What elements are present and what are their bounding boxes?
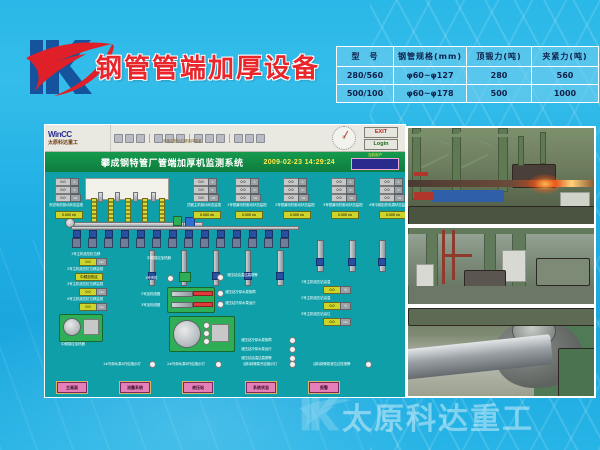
hmi-system-title: 攀成钢特管厂管端加厚机监测系统 [101, 156, 244, 169]
roller [281, 230, 289, 238]
value-box: 0.0 [55, 194, 71, 202]
unit-box: A [346, 178, 355, 186]
cylinder-joint [316, 258, 324, 266]
unit-box: V [250, 186, 259, 194]
unit-box: A [298, 178, 307, 186]
lamp-label: 液压站冷却水泵运行 [225, 301, 256, 306]
hydraulic-cylinder [349, 240, 356, 272]
readout-label: 3号主机液压站油位 [301, 312, 330, 317]
unit-box: V [298, 186, 307, 194]
refresh-icon[interactable] [256, 134, 265, 143]
hydraulic-cylinder [379, 240, 386, 272]
photo-detail [540, 132, 546, 164]
exit-button[interactable]: EXIT [364, 127, 398, 138]
readout-label: 2号主机液压站油温 [301, 296, 330, 301]
value-box: 0.0 [331, 178, 347, 186]
value-box: 0.0 [235, 194, 251, 202]
photo-detail [432, 190, 504, 202]
table-cell: φ60~φ127 [394, 67, 467, 85]
unit-box: Hz [250, 194, 261, 202]
hmi-toolbar: WinCC 太原科达重工 请单击鼠标右键选择菜单 [45, 125, 405, 152]
photo-detail [518, 136, 524, 166]
save-icon[interactable] [125, 134, 134, 143]
photo-detail [412, 128, 421, 200]
roller-stand [72, 238, 81, 248]
hydraulic-cylinder [245, 250, 251, 286]
status-lamp [203, 338, 210, 345]
hmi-title-bar: 攀成钢特管厂管端加厚机监测系统 2009-02-23 14:29:24 当前用户 [45, 152, 405, 172]
center-label: 3号加热线圈 [141, 303, 160, 308]
login-button[interactable]: Login [364, 139, 398, 150]
lamp-label: 液压站冷却水泵故障 [225, 290, 256, 295]
table-header-row: 型 号 钢管规格(mm) 顶锻力(吨) 夹紧力(吨) [337, 47, 599, 67]
roller-stand [136, 238, 145, 248]
roller-stand [88, 238, 97, 248]
photo-detail [414, 172, 428, 176]
photo-detail [558, 348, 596, 398]
value-box: 0.0 [283, 178, 299, 186]
hydraulic-station-label: 中频感应加热器 [61, 342, 85, 347]
readout-value: 0.0 [79, 258, 97, 266]
unit-box: Hz [346, 194, 357, 202]
open-icon[interactable] [114, 134, 123, 143]
cylinder-joint [276, 272, 284, 280]
wincc-brand: WinCC 太原科达重工 [45, 125, 111, 151]
hydraulic-cylinder [317, 240, 324, 272]
nav-button-hydraulic[interactable]: 液压站 [183, 382, 213, 393]
sensor-probe [115, 192, 120, 202]
photo-image [408, 128, 594, 224]
hmi-top-buttons: EXIT Login [360, 125, 405, 151]
unit-box: V [346, 186, 355, 194]
hydraulic-cylinder [277, 250, 284, 286]
table-cell: φ60~φ178 [394, 85, 467, 103]
value-box: 0.0 [55, 178, 71, 186]
sensor-probe [133, 192, 138, 202]
rotary-selector [173, 320, 201, 348]
watermark-text: 太原科达重工 [342, 394, 534, 438]
watermark: 太原科达重工 [298, 392, 598, 440]
table-header-cell: 钢管规格(mm) [394, 47, 467, 67]
roller [137, 230, 145, 238]
tank-indicator [83, 319, 99, 335]
lamp-label: 液压站油温过高报警 [241, 356, 272, 361]
unit-box: Hz [394, 194, 405, 202]
readout-value: 0.0 [79, 288, 97, 296]
readout-value: 0.0 [323, 302, 341, 310]
lamp-label: 液压站油温过高报警 [227, 273, 258, 278]
photo-detail [461, 154, 489, 169]
print-icon[interactable] [136, 134, 145, 143]
unit-box: A [208, 178, 217, 186]
table-cell: 500/100 [337, 85, 394, 103]
status-lamp [149, 361, 156, 368]
roller-stand [184, 238, 193, 248]
roller [201, 230, 209, 238]
slide-canvas: 钢管管端加厚设备 型 号 钢管规格(mm) 顶锻力(吨) 夹紧力(吨) 280/… [0, 0, 600, 450]
unit-box: A [394, 178, 403, 186]
readout-unit: mm [96, 258, 107, 266]
cylinder-joint [348, 258, 356, 266]
unit-box: Hz [208, 194, 219, 202]
lamp-label: 油料润滑泵液位过低报警 [313, 362, 350, 367]
readout-unit: ℃ [340, 286, 351, 294]
readout-unit: ℃ [340, 302, 351, 310]
status-lamp [289, 361, 296, 368]
status-lamp [365, 361, 372, 368]
nav-button-flow[interactable]: 流量系统 [120, 382, 150, 393]
readout-label: 1号主机液压缸位移 [71, 252, 100, 257]
value-box: 0.0 [379, 186, 395, 194]
panel-caption: 顶锻主机驱动状态监视 [187, 203, 221, 208]
analog-clock-gauge: K [332, 126, 356, 150]
current-user-value [351, 158, 399, 170]
unit-box: A [250, 178, 259, 186]
roller-stand [280, 238, 289, 248]
photo-detail [442, 230, 445, 284]
photo-rolling-mill-hot-pipe [406, 126, 596, 226]
center-label: 中频感应加热器 [147, 256, 171, 261]
readout-value: 0.0 [323, 286, 341, 294]
photo-detail [421, 154, 449, 169]
unit-box: Hz [298, 194, 309, 202]
readout-unit: mm [96, 303, 107, 311]
value-box: 0.0 [235, 186, 251, 194]
value-box: 0.0 [235, 178, 251, 186]
toolbar-separator [149, 134, 150, 143]
nav-button-status[interactable]: 系统状态 [246, 382, 276, 393]
unit-box: Hz [70, 194, 81, 202]
photo-image [408, 308, 594, 396]
roller [89, 230, 97, 238]
photo-detail [408, 180, 594, 187]
roller-stand [120, 238, 129, 248]
table-header-cell: 夹紧力(吨) [531, 47, 598, 67]
toolbar-hint-text: 请单击鼠标右键选择菜单 [163, 139, 202, 144]
value-box: 0.0 [193, 194, 209, 202]
photo-detail [442, 254, 472, 257]
roller [265, 230, 273, 238]
status-lamp [289, 346, 296, 353]
readout-label: 4号主机液压缸位移监视 [67, 297, 103, 302]
photo-detail [536, 258, 590, 286]
readout-box: 0.000 r/s [283, 211, 311, 219]
status-lamp [217, 290, 224, 297]
value-box: 0.0 [283, 194, 299, 202]
table-cell: 280 [466, 67, 531, 85]
report-icon[interactable] [216, 134, 225, 143]
roller [121, 230, 129, 238]
cabinet-display [211, 324, 229, 342]
wincc-company-label: 太原科达重工 [48, 139, 110, 146]
lamp-label: 油料润滑泵开启指示灯 [243, 362, 277, 367]
lamp-label: 2#冷却水泵B开启指示灯 [167, 362, 205, 367]
pump-dial [63, 318, 81, 336]
status-lamp [217, 274, 224, 281]
help-icon[interactable] [234, 134, 243, 143]
roller [185, 230, 193, 238]
nav-button-alarm[interactable]: 报警 [309, 382, 339, 393]
table-row: 500/100 φ60~φ178 500 1000 [337, 85, 599, 103]
cylinder-joint [378, 258, 386, 266]
status-lamp [217, 301, 224, 308]
photo-workshop-interior [406, 226, 596, 306]
unit-box: V [394, 186, 403, 194]
readout-box: 0.000 r/s [331, 211, 359, 219]
hmi-toolbar-icons[interactable]: 请单击鼠标右键选择菜单 [111, 125, 328, 151]
toolbar-separator [229, 134, 230, 143]
roller-stand [248, 238, 257, 248]
readout-unit: mm [340, 318, 351, 326]
photo-detail [414, 192, 434, 200]
roller-stand [104, 238, 113, 248]
readout-label: 2号主机液压缸位移监视 [67, 267, 103, 272]
roller [169, 230, 177, 238]
table-header-cell: 顶锻力(吨) [466, 47, 531, 67]
nav-button-main[interactable]: 主画面 [57, 382, 87, 393]
roller-stand [168, 238, 177, 248]
lamp-label: 液压站冷却水泵运行 [241, 347, 272, 352]
photo-detail [408, 308, 596, 326]
panel-caption: 3号辊道电机驱动状态监视 [323, 203, 362, 208]
roller-stand [200, 238, 209, 248]
unit-box: V [70, 186, 79, 194]
readout-box: 0.000 r/s [193, 211, 221, 219]
page-title: 钢管管端加厚设备 [96, 48, 320, 85]
roller [153, 230, 161, 238]
readout-value: 中频加热区 [75, 273, 103, 281]
settings-icon[interactable] [245, 134, 254, 143]
readout-box: 0.000 r/s [235, 211, 263, 219]
zoom-in-icon[interactable] [154, 134, 163, 143]
roller [233, 230, 241, 238]
table-cell: 1000 [531, 85, 598, 103]
heater-bar [193, 302, 213, 307]
table-cell: 560 [531, 67, 598, 85]
center-label: 2号加热线圈 [141, 292, 160, 297]
readout-label: 1号主机液压站油温 [301, 280, 330, 285]
readout-box: 0.000 r/s [379, 211, 406, 219]
unit-box: V [208, 186, 217, 194]
roller [73, 230, 81, 238]
hmi-button-bar: 主画面 流量系统 液压站 系统状态 报警 [45, 382, 405, 394]
readout-unit: mm [96, 288, 107, 296]
photo-detail [528, 174, 562, 194]
readout-box: 0.000 r/s [55, 211, 83, 219]
status-lamp [289, 355, 296, 362]
status-lamp [203, 322, 210, 329]
roller-stand [152, 238, 161, 248]
roller [105, 230, 113, 238]
value-box: 0.0 [331, 194, 347, 202]
photo-detail [408, 228, 596, 234]
current-user-field[interactable]: 当前用户 [351, 153, 399, 170]
valve-block [173, 216, 182, 226]
photo-image [408, 228, 594, 304]
status-lamp [167, 275, 174, 282]
status-lamp [203, 330, 210, 337]
value-box: 0.0 [379, 178, 395, 186]
photo-detail [408, 206, 596, 226]
roller-stand [216, 238, 225, 248]
roller-stand [264, 238, 273, 248]
hmi-mimic-diagram: 0.0 A 0.0 V 0.0 Hz 夹钳电机驱动状态监视 0.000 r/s … [45, 172, 405, 398]
trend-icon[interactable] [205, 134, 214, 143]
panel-caption: 夹钳电机驱动状态监视 [49, 203, 83, 208]
table-cell: 500 [466, 85, 531, 103]
readout-value: 0.0 [323, 318, 341, 326]
roller-stand [232, 238, 241, 248]
sensor-probe [98, 192, 103, 202]
watermark-logo-icon [298, 392, 354, 436]
photo-upset-pipe-end-closeup [406, 306, 596, 398]
panel-caption: 2号辊道电机驱动状态监视 [275, 203, 314, 208]
value-box: 0.0 [283, 186, 299, 194]
value-box: 0.0 [193, 186, 209, 194]
unit-box: A [70, 178, 79, 186]
roller [249, 230, 257, 238]
value-box: 0.0 [55, 186, 71, 194]
coil-rod [171, 291, 193, 297]
value-box: 0.0 [379, 194, 395, 202]
heater-bar [193, 291, 213, 296]
sensor-probe [151, 192, 156, 202]
panel-caption: 4号中频加热电源状态监视 [369, 203, 406, 208]
readout-label: 3号主机液压缸位移监视 [67, 282, 103, 287]
value-box: 0.0 [331, 186, 347, 194]
table-row: 280/560 φ60~φ127 280 560 [337, 67, 599, 85]
photo-detail [408, 286, 596, 304]
center-label: 1号夹钳 [145, 276, 157, 281]
photo-detail [408, 134, 594, 137]
value-box: 0.0 [193, 178, 209, 186]
status-lamp [215, 361, 222, 368]
valve-block [179, 272, 191, 282]
status-lamp [289, 337, 296, 344]
readout-value: 0.0 [79, 303, 97, 311]
panel-caption: 1号辊道电机驱动状态监视 [227, 203, 266, 208]
roller [217, 230, 225, 238]
table-cell: 280/560 [337, 67, 394, 85]
hmi-datetime: 2009-02-23 14:29:24 [264, 159, 335, 166]
wincc-product-label: WinCC [48, 130, 110, 139]
hmi-screenshot: WinCC 太原科达重工 请单击鼠标右键选择菜单 [44, 124, 406, 398]
lamp-label: 液压站冷却水泵故障 [241, 338, 272, 343]
coil-rod [171, 302, 193, 308]
table-header-cell: 型 号 [337, 47, 394, 67]
spec-table: 型 号 钢管规格(mm) 顶锻力(吨) 夹紧力(吨) 280/560 φ60~φ… [336, 46, 599, 103]
photo-detail [416, 264, 434, 288]
lamp-label: 1#冷却水泵A开启指示灯 [103, 362, 141, 367]
